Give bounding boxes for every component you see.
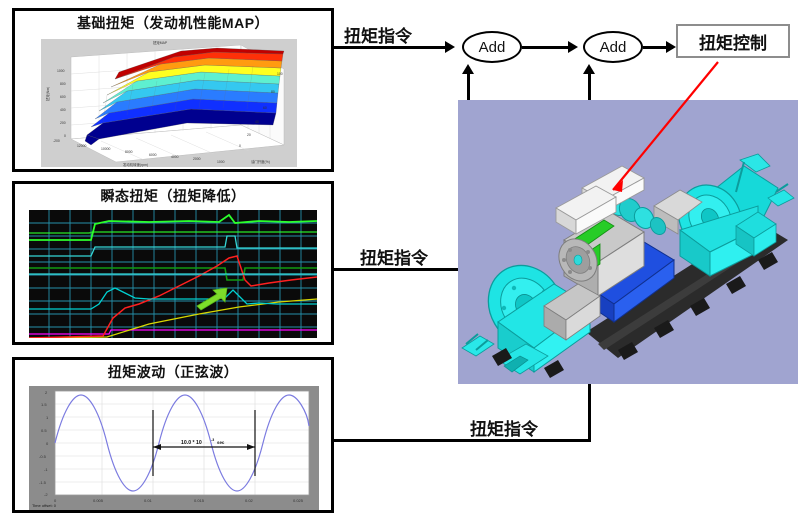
- svg-text:8000: 8000: [125, 150, 133, 154]
- svg-text:0.015: 0.015: [194, 498, 205, 503]
- sine-svg: 10.0 * 10 -3 sec 21.5 10.5 0-0.5 -1-1.5 …: [29, 386, 319, 510]
- svg-text:80: 80: [271, 90, 275, 94]
- svg-text:油门开度(%): 油门开度(%): [251, 159, 270, 164]
- svg-text:1.5: 1.5: [41, 402, 47, 407]
- svg-text:2000: 2000: [193, 157, 201, 161]
- svg-text:0.025: 0.025: [293, 498, 304, 503]
- wire-add1-to-add2: [522, 46, 572, 49]
- panel-body-torque-ripple: 10.0 * 10 -3 sec 21.5 10.5 0-0.5 -1-1.5 …: [15, 384, 331, 510]
- add-node-1-label: Add: [479, 39, 506, 56]
- sine-period-annotation: 10.0 * 10: [181, 440, 202, 446]
- surface3d-svg: 扭矩MAP 1000800 600400 2000 -200 扭矩(Nm) 12…: [41, 39, 297, 167]
- diagram-canvas: 基础扭矩（发动机性能MAP）: [0, 0, 798, 520]
- svg-text:1000: 1000: [217, 160, 225, 164]
- add-node-2[interactable]: Add: [583, 31, 643, 63]
- surface3d-chart: 扭矩MAP 1000800 600400 2000 -200 扭矩(Nm) 12…: [41, 39, 297, 167]
- sine-chart-frame: 10.0 * 10 -3 sec 21.5 10.5 0-0.5 -1-1.5 …: [29, 386, 319, 510]
- panel-title-torque-ripple: 扭矩波动（正弦波）: [15, 362, 331, 382]
- svg-text:-3: -3: [211, 438, 214, 442]
- panel-title-transient-torque: 瞬态扭矩（扭矩降低）: [15, 186, 331, 206]
- output-box-label: 扭矩控制: [699, 29, 767, 54]
- svg-text:0: 0: [239, 144, 241, 148]
- panel-base-torque-map[interactable]: 基础扭矩（发动机性能MAP）: [12, 8, 334, 172]
- panel-torque-ripple[interactable]: 扭矩波动（正弦波）: [12, 357, 334, 513]
- flow-label-bottom: 扭矩指令: [470, 415, 538, 440]
- panel-body-transient-torque: [15, 208, 331, 342]
- arrowhead-top-to-add1: [445, 41, 455, 53]
- svg-text:-0.5: -0.5: [39, 454, 47, 459]
- svg-text:60: 60: [263, 106, 267, 110]
- svg-text:12000: 12000: [77, 144, 87, 148]
- wire-bottom-horizontal: [333, 439, 591, 442]
- arrowhead-add1-to-add2: [568, 41, 578, 53]
- svg-text:20: 20: [247, 133, 251, 137]
- svg-text:600: 600: [60, 95, 66, 99]
- add-node-1[interactable]: Add: [462, 31, 522, 63]
- machine-svg: [458, 100, 798, 384]
- arrowhead-middle-to-add1: [462, 64, 474, 74]
- svg-text:发动机转速(rpm): 发动机转速(rpm): [123, 162, 148, 167]
- output-box-torque-control[interactable]: 扭矩控制: [676, 24, 790, 58]
- svg-text:sec: sec: [217, 440, 225, 445]
- flow-label-middle: 扭矩指令: [360, 244, 428, 269]
- svg-text:400: 400: [60, 108, 66, 112]
- panel-title-base-torque-map: 基础扭矩（发动机性能MAP）: [15, 13, 331, 33]
- svg-text:扭矩MAP: 扭矩MAP: [153, 40, 168, 45]
- svg-text:10000: 10000: [101, 147, 111, 151]
- svg-text:0: 0: [64, 134, 66, 138]
- svg-text:40: 40: [255, 120, 259, 124]
- svg-text:-200: -200: [53, 139, 60, 143]
- oscilloscope-svg: [29, 210, 317, 338]
- arrowhead-add2-to-output: [666, 41, 676, 53]
- svg-text:0.01: 0.01: [144, 498, 153, 503]
- panel-body-base-torque-map: 扭矩MAP 1000800 600400 2000 -200 扭矩(Nm) 12…: [15, 37, 331, 169]
- svg-text:-1.5: -1.5: [39, 480, 47, 485]
- panel-transient-torque[interactable]: 瞬态扭矩（扭矩降低）: [12, 181, 334, 345]
- svg-text:0.5: 0.5: [41, 428, 47, 433]
- svg-text:800: 800: [60, 82, 66, 86]
- svg-text:扭矩(Nm): 扭矩(Nm): [45, 87, 50, 101]
- oscilloscope-chart: [29, 210, 317, 338]
- time-offset-label: Time offset: 0: [32, 503, 57, 508]
- svg-text:6000: 6000: [149, 153, 157, 157]
- svg-text:4000: 4000: [171, 155, 179, 159]
- add-node-2-label: Add: [600, 39, 627, 56]
- svg-text:1000: 1000: [57, 69, 65, 73]
- svg-text:100: 100: [277, 72, 283, 76]
- svg-text:0.02: 0.02: [245, 498, 254, 503]
- svg-text:0.005: 0.005: [93, 498, 104, 503]
- svg-text:200: 200: [60, 121, 66, 125]
- arrowhead-bottom-to-add2: [583, 64, 595, 74]
- flow-label-top: 扭矩指令: [344, 22, 412, 47]
- dynamometer-test-bench-image: [458, 100, 798, 384]
